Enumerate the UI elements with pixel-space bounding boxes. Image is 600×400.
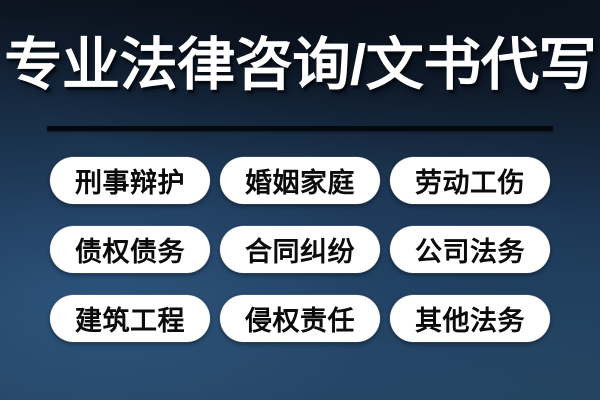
service-tag-marriage-family[interactable]: 婚姻家庭 bbox=[220, 157, 380, 204]
legal-services-poster: 专业法律咨询/文书代写 刑事辩护 婚姻家庭 劳动工伤 债权债务 合同纠纷 公司法… bbox=[0, 0, 600, 400]
service-tag-label: 建筑工程 bbox=[75, 299, 185, 338]
service-tag-row: 刑事辩护 婚姻家庭 劳动工伤 bbox=[0, 157, 600, 204]
service-tag-criminal-defense[interactable]: 刑事辩护 bbox=[50, 157, 210, 204]
service-tag-tort-liability[interactable]: 侵权责任 bbox=[220, 295, 380, 342]
service-tag-label: 其他法务 bbox=[415, 299, 525, 338]
service-tag-row: 建筑工程 侵权责任 其他法务 bbox=[0, 295, 600, 342]
service-tag-label: 侵权责任 bbox=[245, 299, 355, 338]
service-tag-grid: 刑事辩护 婚姻家庭 劳动工伤 债权债务 合同纠纷 公司法务 建筑工程 bbox=[0, 157, 600, 342]
service-tag-creditor-debt[interactable]: 债权债务 bbox=[50, 226, 210, 273]
title-divider bbox=[47, 126, 553, 131]
service-tag-construction-engineering[interactable]: 建筑工程 bbox=[50, 295, 210, 342]
service-tag-row: 债权债务 合同纠纷 公司法务 bbox=[0, 226, 600, 273]
service-tag-label: 债权债务 bbox=[75, 230, 185, 269]
page-title: 专业法律咨询/文书代写 bbox=[4, 32, 596, 98]
service-tag-corporate-legal[interactable]: 公司法务 bbox=[390, 226, 550, 273]
service-tag-contract-dispute[interactable]: 合同纠纷 bbox=[220, 226, 380, 273]
service-tag-labor-injury[interactable]: 劳动工伤 bbox=[390, 157, 550, 204]
headline-container: 专业法律咨询/文书代写 bbox=[0, 32, 600, 98]
service-tag-label: 合同纠纷 bbox=[245, 230, 355, 269]
service-tag-other-legal[interactable]: 其他法务 bbox=[390, 295, 550, 342]
service-tag-label: 公司法务 bbox=[415, 230, 525, 269]
service-tag-label: 劳动工伤 bbox=[415, 161, 525, 200]
service-tag-label: 婚姻家庭 bbox=[245, 161, 355, 200]
service-tag-label: 刑事辩护 bbox=[75, 161, 185, 200]
